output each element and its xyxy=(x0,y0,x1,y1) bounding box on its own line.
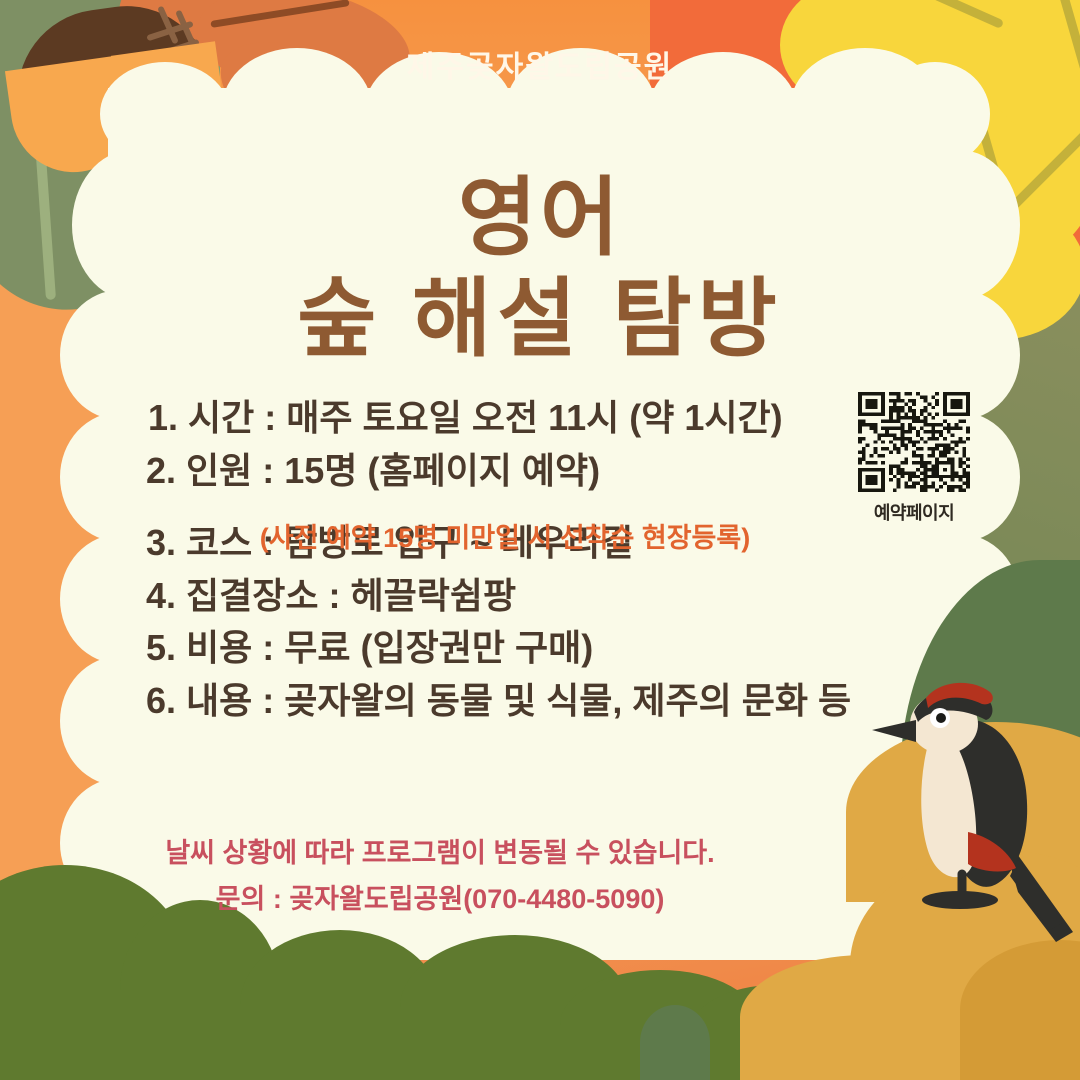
info-list-item-1: 1. 시간 : 매주 토요일 오전 11시 (약 1시간) xyxy=(148,392,936,445)
footer-line-weather: 날씨 상황에 따라 프로그램이 변동될 수 있습니다. xyxy=(0,830,880,876)
info-list-item-4: 4. 집결장소 : 헤끌락쉼팡 xyxy=(146,570,936,623)
qr-code-icon[interactable] xyxy=(858,392,970,492)
woodpecker-icon xyxy=(868,660,1080,950)
bush-shape xyxy=(640,1005,710,1080)
footer-notes: 날씨 상황에 따라 프로그램이 변동될 수 있습니다. 문의 : 곶자왈도립공원… xyxy=(0,830,880,923)
qr-code-block[interactable]: 예약페이지 xyxy=(856,392,972,525)
page-title-line-1: 영어 xyxy=(0,168,1080,269)
info-list-item-2: 2. 인원 : 15명 (홈페이지 예약) xyxy=(146,445,936,498)
info-list: 1. 시간 : 매주 토요일 오전 11시 (약 1시간) 2. 인원 : 15… xyxy=(146,392,936,727)
page-header-title: 제주곶자왈도립공원 xyxy=(0,42,1080,86)
footer-line-contact: 문의 : 곶자왈도립공원(070-4480-5090) xyxy=(0,876,880,922)
qr-code-label: 예약페이지 xyxy=(856,499,972,525)
info-list-item-6: 6. 내용 : 곶자왈의 동물 및 식물, 제주의 문화 등 xyxy=(146,675,936,728)
page-title-line-2: 숲 해설 탐방 xyxy=(0,269,1080,370)
poster-canvas: 제주곶자왈도립공원 영어 숲 해설 탐방 1. 시간 : 매주 토요일 오전 1… xyxy=(0,0,1080,1080)
page-title: 영어 숲 해설 탐방 xyxy=(0,168,1080,371)
info-list-item-5: 5. 비용 : 무료 (입장권만 구매) xyxy=(146,622,936,675)
